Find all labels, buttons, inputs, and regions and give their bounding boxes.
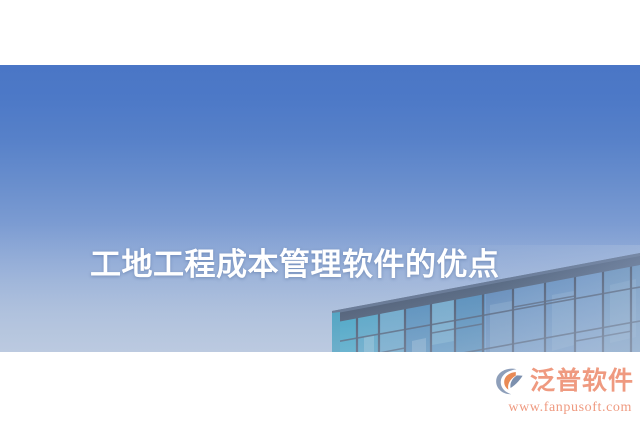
fanpu-swoosh-logo-icon: [494, 366, 526, 396]
brand-name: 泛普软件: [530, 366, 634, 396]
brand-logo-row: 泛普软件: [494, 364, 632, 398]
brand-url: www.fanpusoft.com: [494, 399, 632, 416]
page-root: 工地工程成本管理软件的优点 泛普软件 www.fanpusoft.com: [0, 0, 640, 427]
brand-watermark: 泛普软件 www.fanpusoft.com: [494, 364, 632, 420]
hero-banner-image: 工地工程成本管理软件的优点: [0, 65, 640, 352]
page-title: 工地工程成本管理软件的优点: [90, 245, 500, 285]
